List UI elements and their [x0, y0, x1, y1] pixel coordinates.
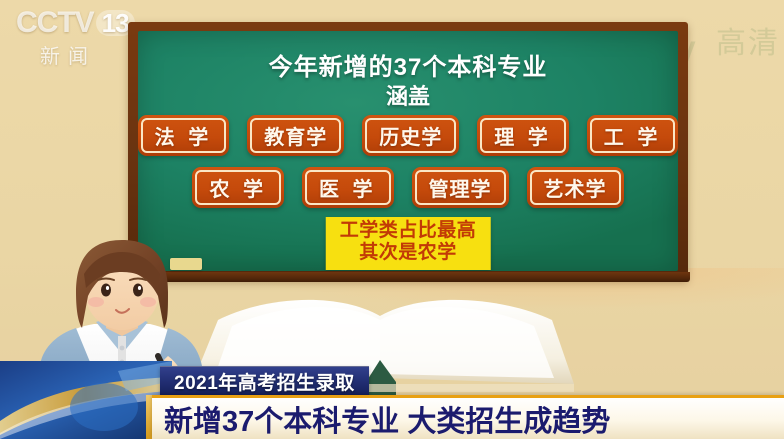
- highlight-line-2: 其次是农学: [340, 242, 477, 264]
- blackboard-surface: 今年新增的37个本科专业 涵盖 法 学 教育学 历史学 理 学: [138, 31, 678, 271]
- subject-tag-label: 历史学: [374, 121, 447, 150]
- subject-tag-label: 艺术学: [539, 173, 612, 202]
- subject-tag-law[interactable]: 法 学: [138, 115, 229, 156]
- broadcast-frame: CCTV13 新闻 CCTV 高清 今年新增的37个本科专业 涵盖 法 学 教育…: [0, 0, 784, 439]
- subject-tag-medicine[interactable]: 医 学: [302, 167, 394, 208]
- subject-tag-label: 农 学: [204, 173, 272, 202]
- subject-tag-groups: 法 学 教育学 历史学 理 学 工 学: [138, 115, 678, 219]
- subject-tag-arts[interactable]: 艺术学: [527, 167, 624, 208]
- blackboard-subtitle: 涵盖: [138, 79, 678, 111]
- headline-text: 新增37个本科专业 大类招生成趋势: [164, 398, 610, 439]
- subject-tag-label: 工 学: [599, 121, 667, 150]
- subject-tag-engineering[interactable]: 工 学: [587, 115, 678, 156]
- blackboard-title: 今年新增的37个本科专业: [138, 47, 678, 82]
- highlight-callout: 工学类占比最高 其次是农学: [326, 217, 491, 270]
- subject-tag-management[interactable]: 管理学: [412, 167, 509, 208]
- subject-tag-row-2: 农 学 医 学 管理学 艺术学: [138, 167, 678, 208]
- subject-tag-history[interactable]: 历史学: [362, 115, 459, 156]
- subject-tag-agriculture[interactable]: 农 学: [192, 167, 284, 208]
- subject-tag-science[interactable]: 理 学: [477, 115, 569, 156]
- subject-tag-row-1: 法 学 教育学 历史学 理 学 工 学: [138, 115, 678, 156]
- subject-tag-label: 理 学: [489, 121, 557, 150]
- subject-tag-label: 管理学: [424, 173, 497, 202]
- subject-tag-label: 医 学: [314, 173, 382, 202]
- subject-tag-education[interactable]: 教育学: [247, 115, 344, 156]
- blackboard-ledge: [126, 272, 690, 282]
- subject-tag-label: 法 学: [150, 121, 218, 150]
- blackboard-frame: 今年新增的37个本科专业 涵盖 法 学 教育学 历史学 理 学: [128, 22, 688, 280]
- lower-third-kicker: 2021年高考招生录取: [160, 366, 369, 395]
- highlight-line-1: 工学类占比最高: [340, 220, 477, 242]
- lower-third-headline: 新增37个本科专业 大类招生成趋势: [152, 395, 784, 439]
- kicker-text: 2021年高考招生录取: [174, 368, 355, 395]
- subject-tag-label: 教育学: [259, 121, 332, 150]
- chalk-stick: [170, 258, 202, 270]
